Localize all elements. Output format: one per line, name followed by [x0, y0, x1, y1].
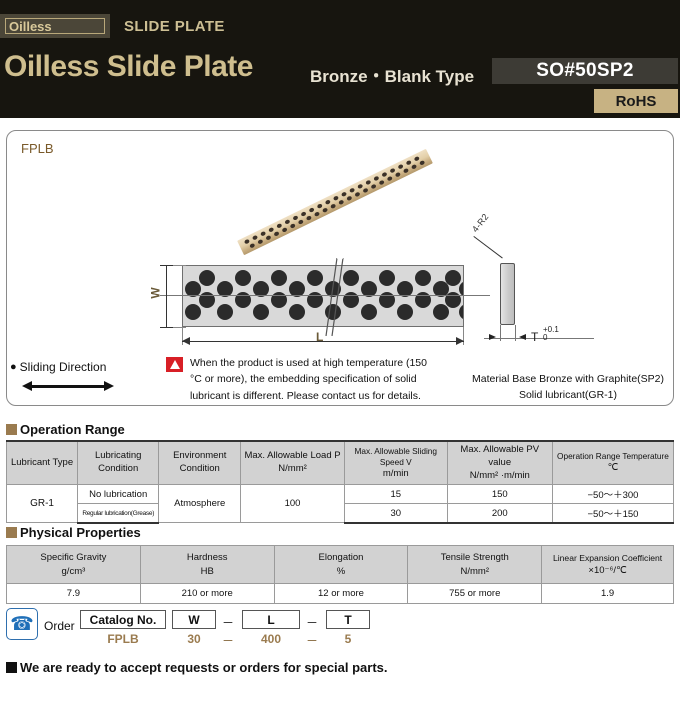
col-lubricating-condition: Lubricating Condition [78, 441, 159, 485]
section-marker-icon [6, 527, 17, 538]
operation-range-heading: Operation Range [6, 422, 125, 437]
field-t-value: 5 [326, 632, 370, 646]
page-subtitle: Bronze・Blank Type [310, 62, 474, 87]
header-kicker: SLIDE PLATE [124, 18, 225, 35]
rohs-text: RoHS [616, 93, 657, 110]
col-operation-temperature: Operation Range Temperature ℃ [552, 441, 673, 485]
t-extension-left [500, 325, 501, 341]
col-specific-gravity: Specific Gravity g/cm³ [7, 546, 141, 584]
physical-properties-table: Specific Gravity g/cm³ Hardness HB Elong… [6, 545, 674, 604]
col-linear-expansion: Linear Expansion Coefficient ×10⁻⁶/℃ [542, 546, 674, 584]
graphite-plug [459, 304, 464, 320]
t-arrow-left [489, 334, 496, 340]
rohs-badge: RoHS [594, 89, 678, 113]
plan-view-drawing [182, 265, 464, 327]
material-line-1: Material Base Bronze with Graphite(SP2) [462, 372, 674, 388]
field-l-label: L [267, 613, 274, 627]
catalog-no-box[interactable]: Catalog No. [80, 610, 166, 629]
cell-linear-expansion: 1.9 [542, 584, 674, 604]
col-hardness: Hardness HB [140, 546, 274, 584]
catalog-no-value: FPLB [80, 632, 166, 646]
cell-pv-1: 150 [447, 485, 552, 504]
order-label: Order [44, 619, 75, 633]
section-marker-icon [6, 662, 17, 673]
table-header-row: Specific Gravity g/cm³ Hardness HB Elong… [7, 546, 674, 584]
series-label: FPLB [21, 141, 54, 156]
l-arrow-left [182, 337, 190, 345]
field-l-box[interactable]: L [242, 610, 300, 629]
field-t-box[interactable]: T [326, 610, 370, 629]
cell-pv-2: 200 [447, 504, 552, 523]
logo-text: Oilless [6, 20, 52, 33]
col-max-sliding-speed: Max. Allowable Sliding Speed V m/min [344, 441, 447, 485]
separator-1-lower: － [222, 632, 234, 649]
order-section: ☎ Order Catalog No. FPLB W 30 － － L 400 … [6, 606, 426, 650]
cell-condition-no-lubrication: No lubrication [78, 485, 159, 504]
graphite-plug [379, 270, 395, 286]
center-line [160, 295, 490, 296]
col-lubricant-type: Lubricant Type [7, 441, 78, 485]
cell-load: 100 [241, 485, 345, 523]
graphite-plug [289, 304, 305, 320]
cell-hardness: 210 or more [140, 584, 274, 604]
sliding-direction-arrow-icon [22, 381, 114, 391]
graphite-plug [361, 304, 377, 320]
separator-2: － [306, 614, 318, 631]
bullet-icon: ● [10, 361, 17, 373]
graphite-plug [307, 270, 323, 286]
physical-properties-heading: Physical Properties [6, 525, 141, 540]
l-dimension-label: L [316, 330, 323, 344]
sliding-direction-text: Sliding Direction [20, 360, 107, 374]
cell-specific-gravity: 7.9 [7, 584, 141, 604]
operation-range-table: Lubricant Type Lubricating Condition Env… [6, 440, 674, 524]
side-view-drawing [500, 263, 515, 325]
operation-range-heading-text: Operation Range [20, 422, 125, 437]
cell-speed-2: 30 [344, 504, 447, 523]
physical-properties-heading-text: Physical Properties [20, 525, 141, 540]
graphite-plug [253, 304, 269, 320]
sliding-direction-label: ● Sliding Direction [10, 360, 106, 374]
graphite-plug [199, 270, 215, 286]
telephone-glyph: ☎ [10, 615, 34, 634]
page-title: Oilless Slide Plate [4, 52, 253, 82]
col-max-load: Max. Allowable Load P N/mm² [241, 441, 345, 485]
page-header: Oilless SLIDE PLATE Oilless Slide Plate … [0, 0, 680, 118]
table-row: GR-1 No lubrication Atmosphere 100 15 15… [7, 485, 674, 504]
t-tolerance-lower: 0 [543, 334, 559, 342]
graphite-plug [271, 270, 287, 286]
cell-elongation: 12 or more [274, 584, 408, 604]
graphite-plug [235, 270, 251, 286]
footer-note-text: We are ready to accept requests or order… [20, 660, 388, 675]
t-tolerance: +0.1 0 [543, 326, 559, 343]
separator-2-lower: － [306, 632, 318, 649]
col-tensile-strength: Tensile Strength N/mm² [408, 546, 542, 584]
graphite-plug [343, 270, 359, 286]
graphite-plug [325, 304, 341, 320]
product-code-text: SO#50SP2 [536, 60, 633, 82]
warning-text: When the product is used at high tempera… [190, 355, 440, 404]
l-arrow-right [456, 337, 464, 345]
w-dimension-line [166, 265, 167, 327]
cell-temp-2: −50～＋150 [552, 504, 673, 523]
cell-lubricant-type: GR-1 [7, 485, 78, 523]
table-header-row: Lubricant Type Lubricating Condition Env… [7, 441, 674, 485]
field-t-label: T [344, 613, 351, 627]
product-code-badge: SO#50SP2 [492, 58, 678, 84]
graphite-plug [185, 304, 201, 320]
separator-1: － [222, 614, 234, 631]
w-dimension-label: W [149, 287, 163, 298]
field-l-value: 400 [242, 632, 300, 646]
catalog-no-label: Catalog No. [90, 613, 157, 627]
col-elongation: Elongation % [274, 546, 408, 584]
cell-speed-1: 15 [344, 485, 447, 504]
material-note: Material Base Bronze with Graphite(SP2) … [462, 372, 674, 404]
t-arrow-right [519, 334, 526, 340]
graphite-plug [433, 304, 449, 320]
field-w-label: W [188, 613, 199, 627]
cell-condition-regular-lubrication: Regular lubrication(Grease) [78, 504, 159, 523]
warning-triangle-icon [166, 357, 183, 372]
cell-tensile-strength: 755 or more [408, 584, 542, 604]
graphite-plug [397, 304, 413, 320]
cell-temp-1: −50～＋300 [552, 485, 673, 504]
field-w-box[interactable]: W [172, 610, 216, 629]
graphite-plug [217, 304, 233, 320]
section-marker-icon [6, 424, 17, 435]
t-dimension-label: T [531, 330, 538, 344]
graphite-plug [415, 270, 431, 286]
material-line-2: Solid lubricant(GR-1) [462, 388, 674, 404]
w-arrow-top [160, 265, 173, 266]
w-arrow-bottom [160, 327, 173, 328]
col-max-pv-value: Max. Allowable PV value N/mm² ·m/min [447, 441, 552, 485]
telephone-icon: ☎ [6, 608, 38, 640]
field-w-value: 30 [172, 632, 216, 646]
oilless-logo: Oilless [5, 18, 105, 34]
t-extension-right [515, 325, 516, 341]
table-row: 7.9 210 or more 12 or more 755 or more 1… [7, 584, 674, 604]
footer-note: We are ready to accept requests or order… [6, 660, 388, 675]
cell-environment: Atmosphere [159, 485, 241, 523]
col-environment-condition: Environment Condition [159, 441, 241, 485]
